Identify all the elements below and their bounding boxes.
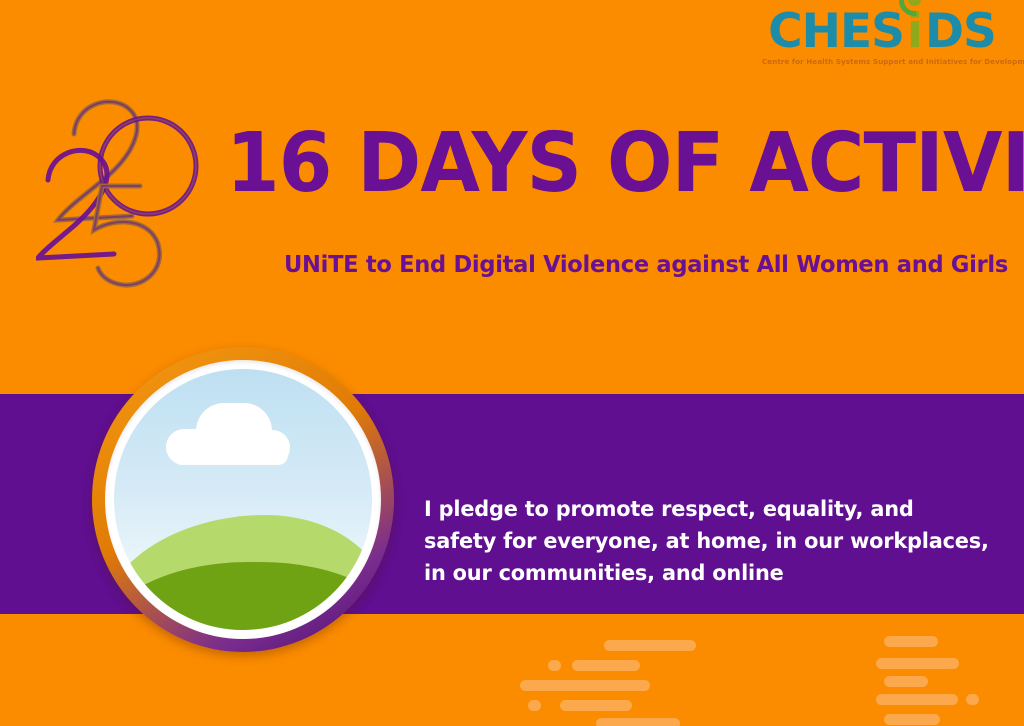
pledge-line-1: I pledge to promote respect, equality, a… (424, 494, 938, 526)
poster-canvas: CHES i DS Centre for Health Systems Supp… (0, 0, 1024, 726)
photo-white-ring (105, 360, 381, 639)
chesids-logo: CHES i DS Centre for Health Systems Supp… (762, 8, 1002, 65)
page-subtitle: UNiTE to End Digital Violence against Al… (284, 250, 1008, 278)
footer-band: CONNECT WITH US (0, 630, 1024, 726)
logo-text-ds: DS (925, 8, 996, 55)
cloud-icon (166, 403, 290, 465)
logo-text-ches: CHES (768, 8, 904, 55)
logo-wordmark: CHES i DS (762, 8, 1002, 55)
pledge-line-3: in our communities, and online (424, 558, 938, 590)
landscape-placeholder-image (114, 369, 372, 630)
page-title: 16 DAYS OF ACTIVISM (226, 125, 959, 203)
circular-photo-frame (92, 347, 394, 652)
logo-tagline: Centre for Health Systems Support and In… (762, 58, 1002, 65)
logo-letter-i-group: i (904, 8, 925, 55)
pledge-text: I pledge to promote respect, equality, a… (424, 494, 954, 589)
speed-lines-decoration (0, 630, 1024, 726)
year-2025-decorative-art (36, 82, 236, 302)
pledge-line-2: safety for everyone, at home, in our wor… (424, 526, 938, 558)
